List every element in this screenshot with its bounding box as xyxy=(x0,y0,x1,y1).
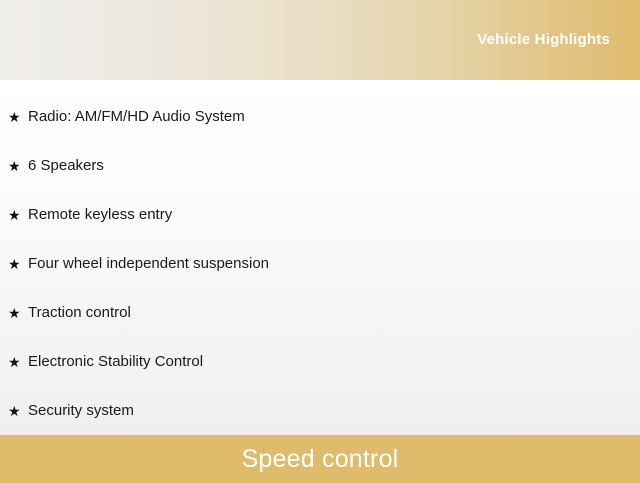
star-icon: ★ xyxy=(8,306,28,320)
list-item-label: Remote keyless entry xyxy=(28,206,172,224)
list-item: ★ Electronic Stability Control xyxy=(0,337,640,386)
list-item-label: 6 Speakers xyxy=(28,157,104,175)
star-icon: ★ xyxy=(8,159,28,173)
star-icon: ★ xyxy=(8,110,28,124)
star-icon: ★ xyxy=(8,355,28,369)
vehicle-highlights-panel: Vehicle Highlights ★ Radio: AM/FM/HD Aud… xyxy=(0,0,640,480)
footer-title: Speed control xyxy=(242,447,399,472)
list-item: ★ Security system xyxy=(0,386,640,435)
list-item-label: Radio: AM/FM/HD Audio System xyxy=(28,108,245,126)
list-item-label: Four wheel independent suspension xyxy=(28,255,269,273)
star-icon: ★ xyxy=(8,208,28,222)
star-icon: ★ xyxy=(8,257,28,271)
footer-banner: Speed control xyxy=(0,435,640,483)
list-item: ★ Four wheel independent suspension xyxy=(0,239,640,288)
list-item: ★ Traction control xyxy=(0,288,640,337)
list-item: ★ Remote keyless entry xyxy=(0,190,640,239)
header-banner: Vehicle Highlights xyxy=(0,0,640,80)
highlights-content: ★ Radio: AM/FM/HD Audio System ★ 6 Speak… xyxy=(0,80,640,435)
list-item: ★ Radio: AM/FM/HD Audio System xyxy=(0,92,640,141)
feature-list: ★ Radio: AM/FM/HD Audio System ★ 6 Speak… xyxy=(0,92,640,435)
list-item-label: Traction control xyxy=(28,304,131,322)
list-item-label: Security system xyxy=(28,402,134,420)
star-icon: ★ xyxy=(8,404,28,418)
list-item: ★ 6 Speakers xyxy=(0,141,640,190)
page-title: Vehicle Highlights xyxy=(477,32,610,49)
list-item-label: Electronic Stability Control xyxy=(28,353,203,371)
